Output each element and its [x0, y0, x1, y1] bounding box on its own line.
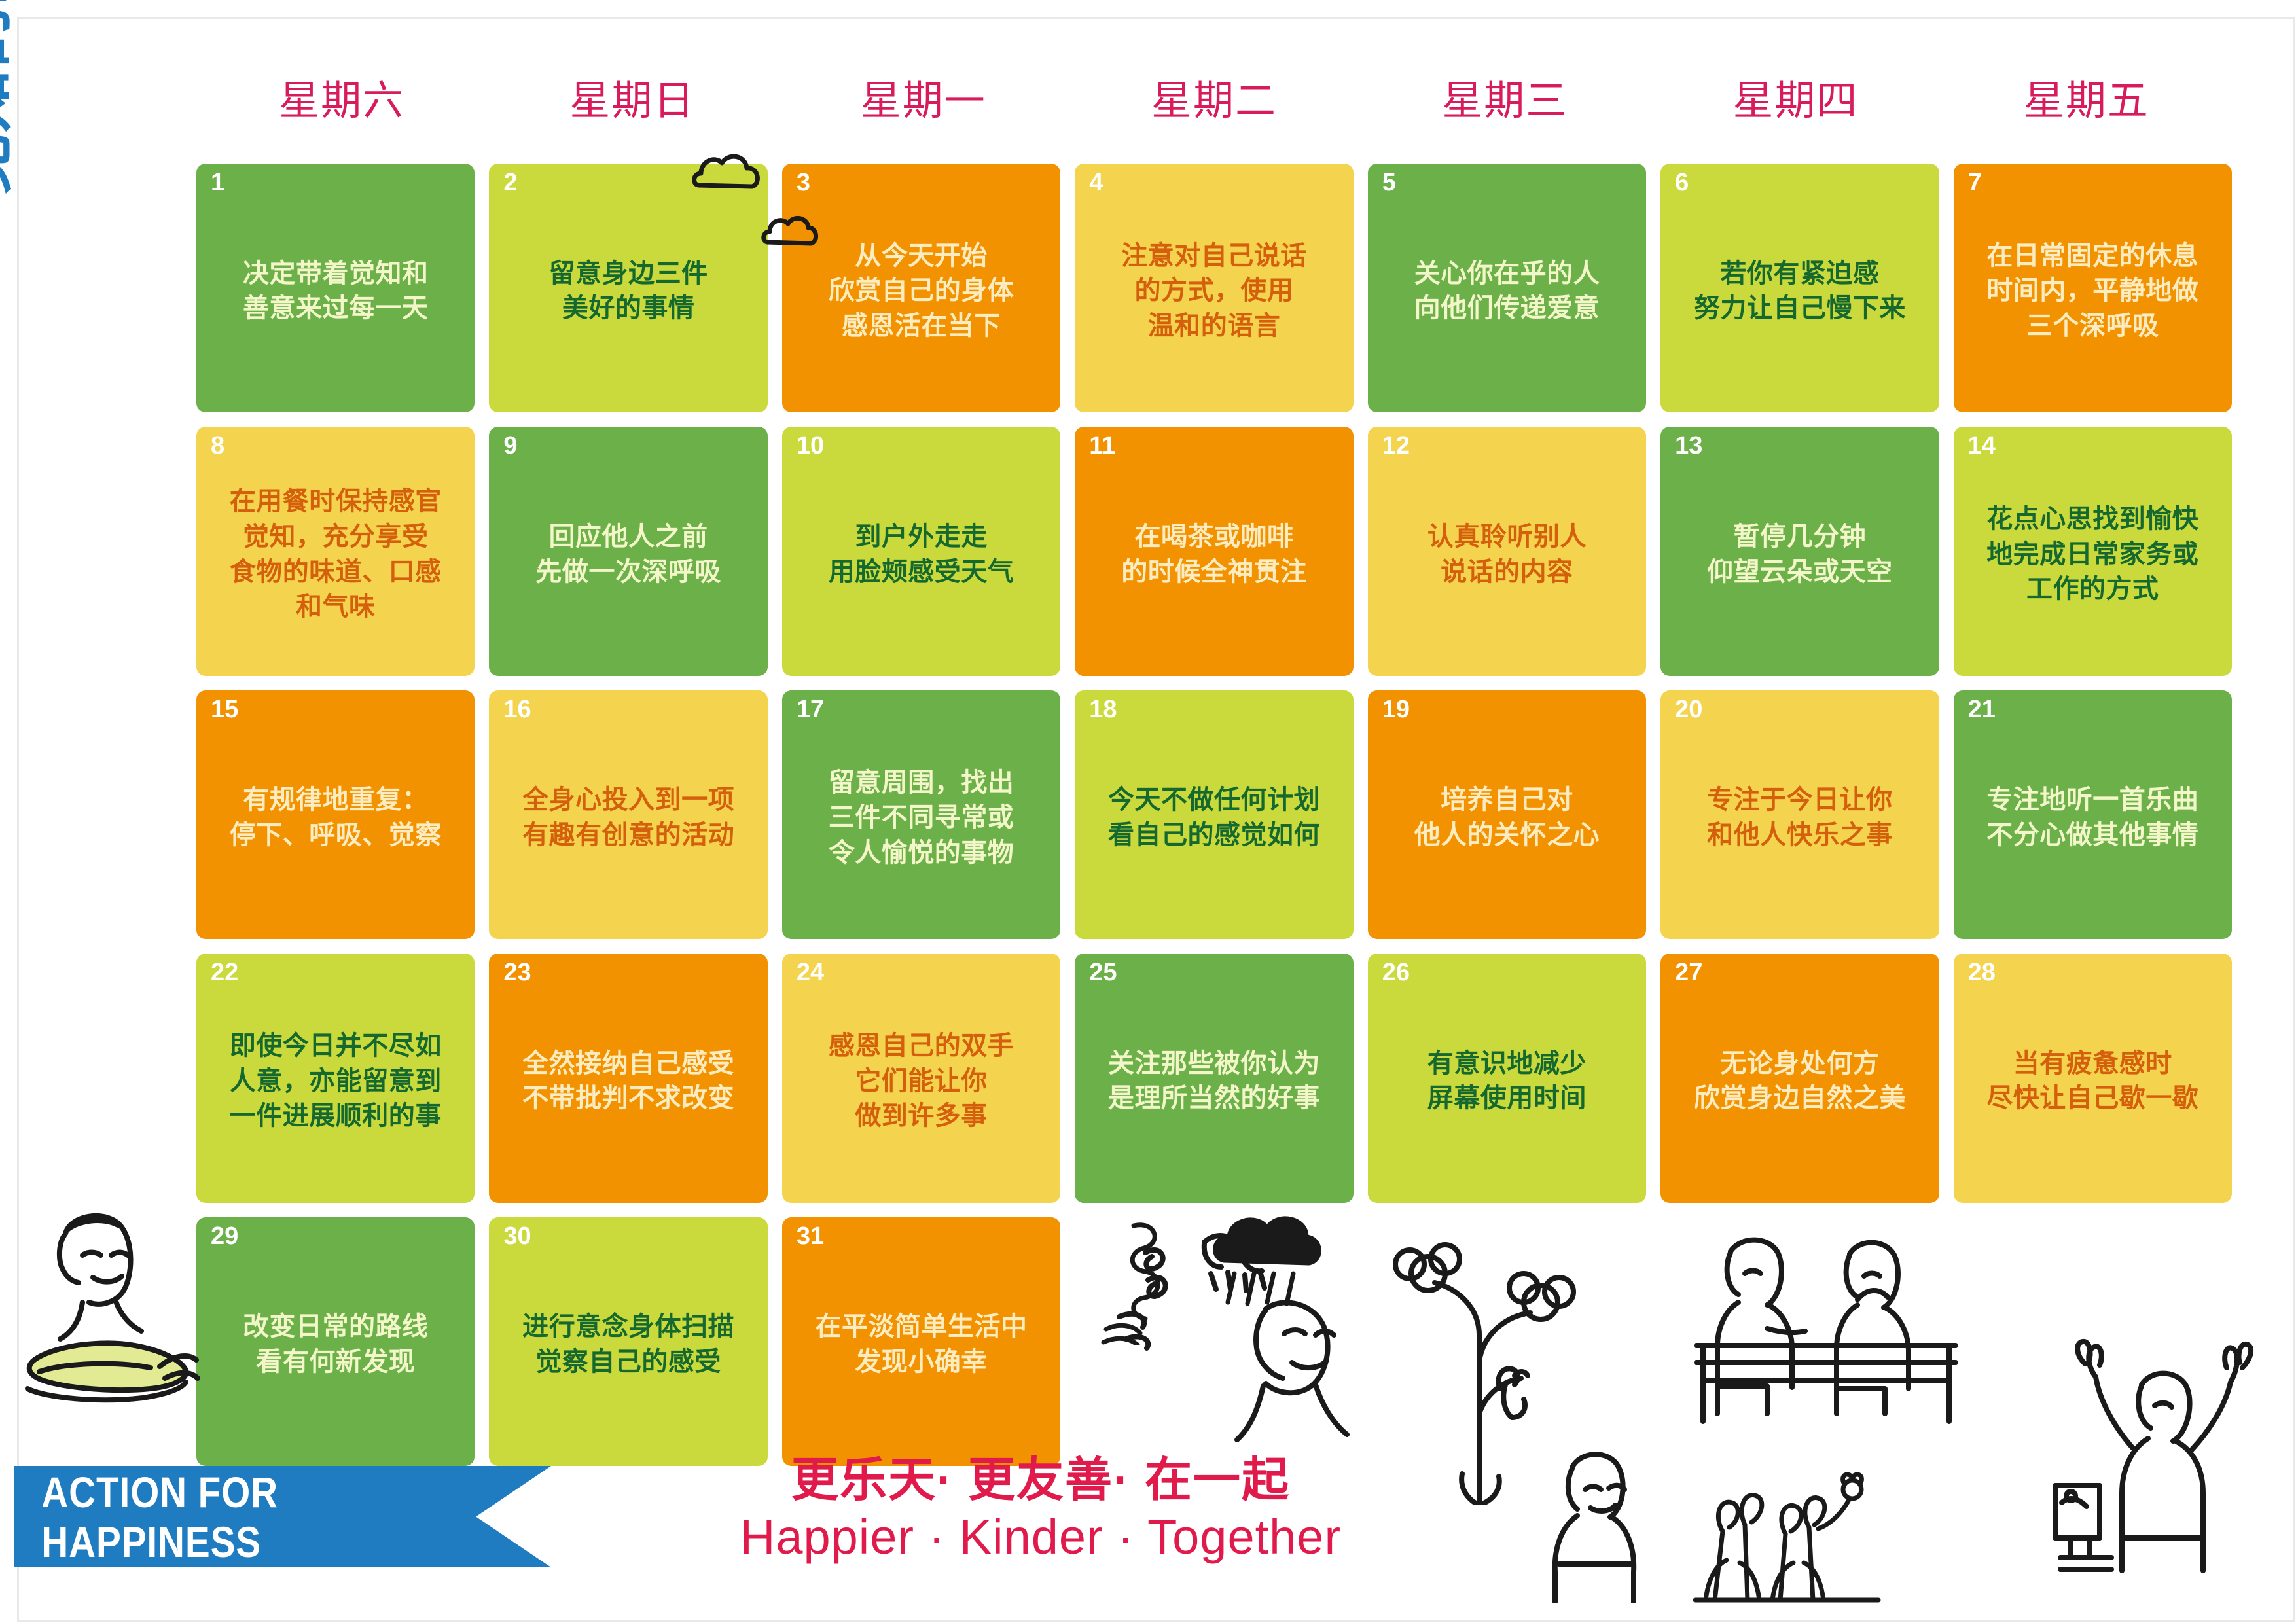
cloud-doodle-small	[761, 209, 819, 250]
day-number: 11	[1089, 433, 1115, 458]
day-number: 23	[503, 960, 531, 985]
calendar-day-cell[interactable]: 20专注于今日让你 和他人快乐之事	[1660, 690, 1939, 939]
day-action-text: 全身心投入到一项 有趣有创意的活动	[517, 783, 740, 853]
day-number: 29	[211, 1224, 238, 1249]
day-action-text: 即使今日并不尽如 人意，亦能留意到 一件进展顺利的事	[224, 1029, 447, 1134]
day-action-text: 回应他人之前 先做一次深呼吸	[530, 520, 726, 590]
day-number: 5	[1382, 170, 1396, 195]
calendar-day-cell[interactable]: 7在日常固定的休息 时间内，平静地做 三个深呼吸	[1954, 164, 2232, 412]
calendar-day-cell[interactable]: 5关心你在乎的人 向他们传递爱意	[1368, 164, 1646, 412]
day-number: 9	[503, 433, 517, 458]
brand-label: ACTION FOR HAPPINESS	[14, 1467, 476, 1567]
day-action-text: 有规律地重复： 停下、呼吸、觉察	[224, 783, 447, 853]
day-action-text: 今天不做任何计划 看自己的感觉如何	[1103, 783, 1325, 853]
day-number: 31	[797, 1224, 824, 1249]
day-action-text: 感恩自己的双手 它们能让你 做到许多事	[823, 1029, 1020, 1134]
calendar-day-cell[interactable]: 4注意对自己说话 的方式，使用 温和的语言	[1075, 164, 1353, 412]
weekday-header: 星期六 星期日 星期一 星期二 星期三 星期四 星期五	[196, 62, 2232, 141]
bench-two-people-doodle	[1689, 1217, 1964, 1433]
weekday-label-mon: 星期一	[778, 62, 1069, 141]
day-action-text: 全然接纳自己感受 不带批判不求改变	[517, 1046, 740, 1116]
day-number: 17	[797, 697, 824, 722]
day-action-text: 在喝茶或咖啡 的时候全神贯注	[1116, 520, 1312, 590]
day-action-text: 决定带着觉知和 善意来过每一天	[238, 257, 434, 327]
day-action-text: 在平淡简单生活中 发现小确幸	[810, 1310, 1033, 1380]
day-action-text: 留意周围，找出 三件不同寻常或 令人愉悦的事物	[823, 766, 1020, 871]
person-eating-doodle	[20, 1198, 209, 1414]
weekday-label-sun: 星期日	[487, 62, 778, 141]
weekday-label-fri: 星期五	[1941, 62, 2232, 141]
calendar-day-cell[interactable]: 13暂停几分钟 仰望云朵或天空	[1660, 427, 1939, 675]
calendar-day-cell[interactable]: 24感恩自己的双手 它们能让你 做到许多事	[782, 954, 1060, 1202]
day-number: 24	[797, 960, 824, 985]
calendar-day-cell[interactable]: 6若你有紧迫感 努力让自己慢下来	[1660, 164, 1939, 412]
footer: ACTION FOR HAPPINESS 更乐天· 更友善· 在一起 Happi…	[0, 1459, 2296, 1584]
weekday-label-wed: 星期三	[1359, 62, 1650, 141]
day-number: 15	[211, 697, 238, 722]
day-number: 12	[1382, 433, 1410, 458]
day-action-text: 注意对自己说话 的方式，使用 温和的语言	[1116, 239, 1312, 344]
day-action-text: 到户外走走 用脸颊感受天气	[823, 520, 1020, 590]
day-action-text: 留意身边三件 美好的事情	[544, 257, 713, 327]
calendar-day-cell[interactable]: 25关注那些被你认为 是理所当然的好事	[1075, 954, 1353, 1202]
calendar-day-cell[interactable]: 16全身心投入到一项 有趣有创意的活动	[489, 690, 767, 939]
day-number: 2	[503, 170, 517, 195]
day-number: 25	[1089, 960, 1117, 985]
day-action-text: 专注地听一首乐曲 不分心做其他事情	[1981, 783, 2204, 853]
calendar-day-cell[interactable]: 14花点心思找到愉快 地完成日常家务或 工作的方式	[1954, 427, 2232, 675]
day-number: 19	[1382, 697, 1410, 722]
weekday-label-sat: 星期六	[196, 62, 487, 141]
day-number: 4	[1089, 170, 1103, 195]
day-action-text: 有意识地减少 屏幕使用时间	[1422, 1046, 1592, 1116]
day-number: 8	[211, 433, 224, 458]
slogan-chinese: 更乐天· 更友善· 在一起	[615, 1453, 1466, 1508]
day-action-text: 认真聆听别人 说话的内容	[1422, 520, 1592, 590]
calendar-day-cell[interactable]: 11在喝茶或咖啡 的时候全神贯注	[1075, 427, 1353, 675]
calendar-day-cell[interactable]: 8在用餐时保持感官 觉知，充分享受 食物的味道、口感 和气味	[196, 427, 475, 675]
day-number: 7	[1968, 170, 1982, 195]
day-number: 13	[1675, 433, 1702, 458]
calendar-day-cell[interactable]: 1决定带着觉知和 善意来过每一天	[196, 164, 475, 412]
day-action-text: 当有疲惫感时 尽快让自己歇一歇	[1981, 1046, 2204, 1116]
weekday-label-thu: 星期四	[1650, 62, 1941, 141]
day-action-text: 关心你在乎的人 向他们传递爱意	[1409, 257, 1605, 327]
day-action-text: 关注那些被你认为 是理所当然的好事	[1103, 1046, 1325, 1116]
day-number: 14	[1968, 433, 1996, 458]
calendar-day-cell[interactable]: 27无论身处何方 欣赏身边自然之美	[1660, 954, 1939, 1202]
calendar-day-cell[interactable]: 29改变日常的路线 看有何新发现	[196, 1217, 475, 1466]
day-action-text: 无论身处何方 欣赏身边自然之美	[1689, 1046, 1911, 1116]
calendar-day-cell[interactable]: 31在平淡简单生活中 发现小确幸	[782, 1217, 1060, 1466]
calendar-day-cell[interactable]: 19培养自己对 他人的关怀之心	[1368, 690, 1646, 939]
day-action-text: 花点心思找到愉快 地完成日常家务或 工作的方式	[1981, 502, 2204, 607]
day-number: 21	[1968, 697, 1996, 722]
calendar-day-cell[interactable]: 22即使今日并不尽如 人意，亦能留意到 一件进展顺利的事	[196, 954, 475, 1202]
brand-banner: ACTION FOR HAPPINESS	[14, 1466, 551, 1567]
weekday-label-tue: 星期二	[1069, 62, 1359, 141]
day-action-text: 在日常固定的休息 时间内，平静地做 三个深呼吸	[1981, 239, 2204, 344]
day-number: 18	[1089, 697, 1117, 722]
day-number: 28	[1968, 960, 1996, 985]
day-number: 22	[211, 960, 238, 985]
slogan: 更乐天· 更友善· 在一起 Happier · Kinder · Togethe…	[615, 1453, 1466, 1565]
day-number: 27	[1675, 960, 1702, 985]
day-action-text: 在用餐时保持感官 觉知，充分享受 食物的味道、口感 和气味	[224, 484, 447, 624]
calendar-day-cell[interactable]: 12认真聆听别人 说话的内容	[1368, 427, 1646, 675]
day-action-text: 从今天开始 欣赏自己的身体 感恩活在当下	[823, 239, 1020, 344]
calendar-day-cell[interactable]: 21专注地听一首乐曲 不分心做其他事情	[1954, 690, 2232, 939]
day-number: 3	[797, 170, 810, 195]
day-number: 30	[503, 1224, 531, 1249]
day-number: 6	[1675, 170, 1689, 195]
calendar-day-cell[interactable]: 18今天不做任何计划 看自己的感觉如何	[1075, 690, 1353, 939]
weather-swirl-doodle	[1100, 1214, 1217, 1345]
calendar-day-cell[interactable]: 28当有疲惫感时 尽快让自己歇一歇	[1954, 954, 2232, 1202]
calendar-day-cell[interactable]: 2留意身边三件 美好的事情	[489, 164, 767, 412]
day-number: 20	[1675, 697, 1702, 722]
calendar-day-cell[interactable]: 10到户外走走 用脸颊感受天气	[782, 427, 1060, 675]
calendar-day-cell[interactable]: 30进行意念身体扫描 觉察自己的感受	[489, 1217, 767, 1466]
calendar-day-cell[interactable]: 26有意识地减少 屏幕使用时间	[1368, 954, 1646, 1202]
calendar-day-cell[interactable]: 23全然接纳自己感受 不带批判不求改变	[489, 954, 767, 1202]
calendar-day-cell[interactable]: 3从今天开始 欣赏自己的身体 感恩活在当下	[782, 164, 1060, 412]
calendar-day-cell[interactable]: 9回应他人之前 先做一次深呼吸	[489, 427, 767, 675]
slogan-english: Happier · Kinder · Together	[615, 1508, 1466, 1565]
rain-cloud-doodle	[1204, 1211, 1329, 1309]
day-action-text: 暂停几分钟 仰望云朵或天空	[1702, 520, 1898, 590]
day-number: 10	[797, 433, 824, 458]
day-number: 1	[211, 170, 224, 195]
day-number: 16	[503, 697, 531, 722]
calendar-day-cell[interactable]: 15有规律地重复： 停下、呼吸、觉察	[196, 690, 475, 939]
calendar-day-cell[interactable]: 17留意周围，找出 三件不同寻常或 令人愉悦的事物	[782, 690, 1060, 939]
day-number: 26	[1382, 960, 1410, 985]
day-action-text: 改变日常的路线 看有何新发现	[238, 1310, 434, 1380]
cloud-doodle-large	[691, 147, 762, 193]
day-action-text: 若你有紧迫感 努力让自己慢下来	[1689, 257, 1911, 327]
day-action-text: 培养自己对 他人的关怀之心	[1409, 783, 1605, 853]
page-title: 觉知的三月 2025	[0, 0, 26, 196]
day-action-text: 专注于今日让你 和他人快乐之事	[1702, 783, 1898, 853]
day-action-text: 进行意念身体扫描 觉察自己的感受	[517, 1310, 740, 1380]
